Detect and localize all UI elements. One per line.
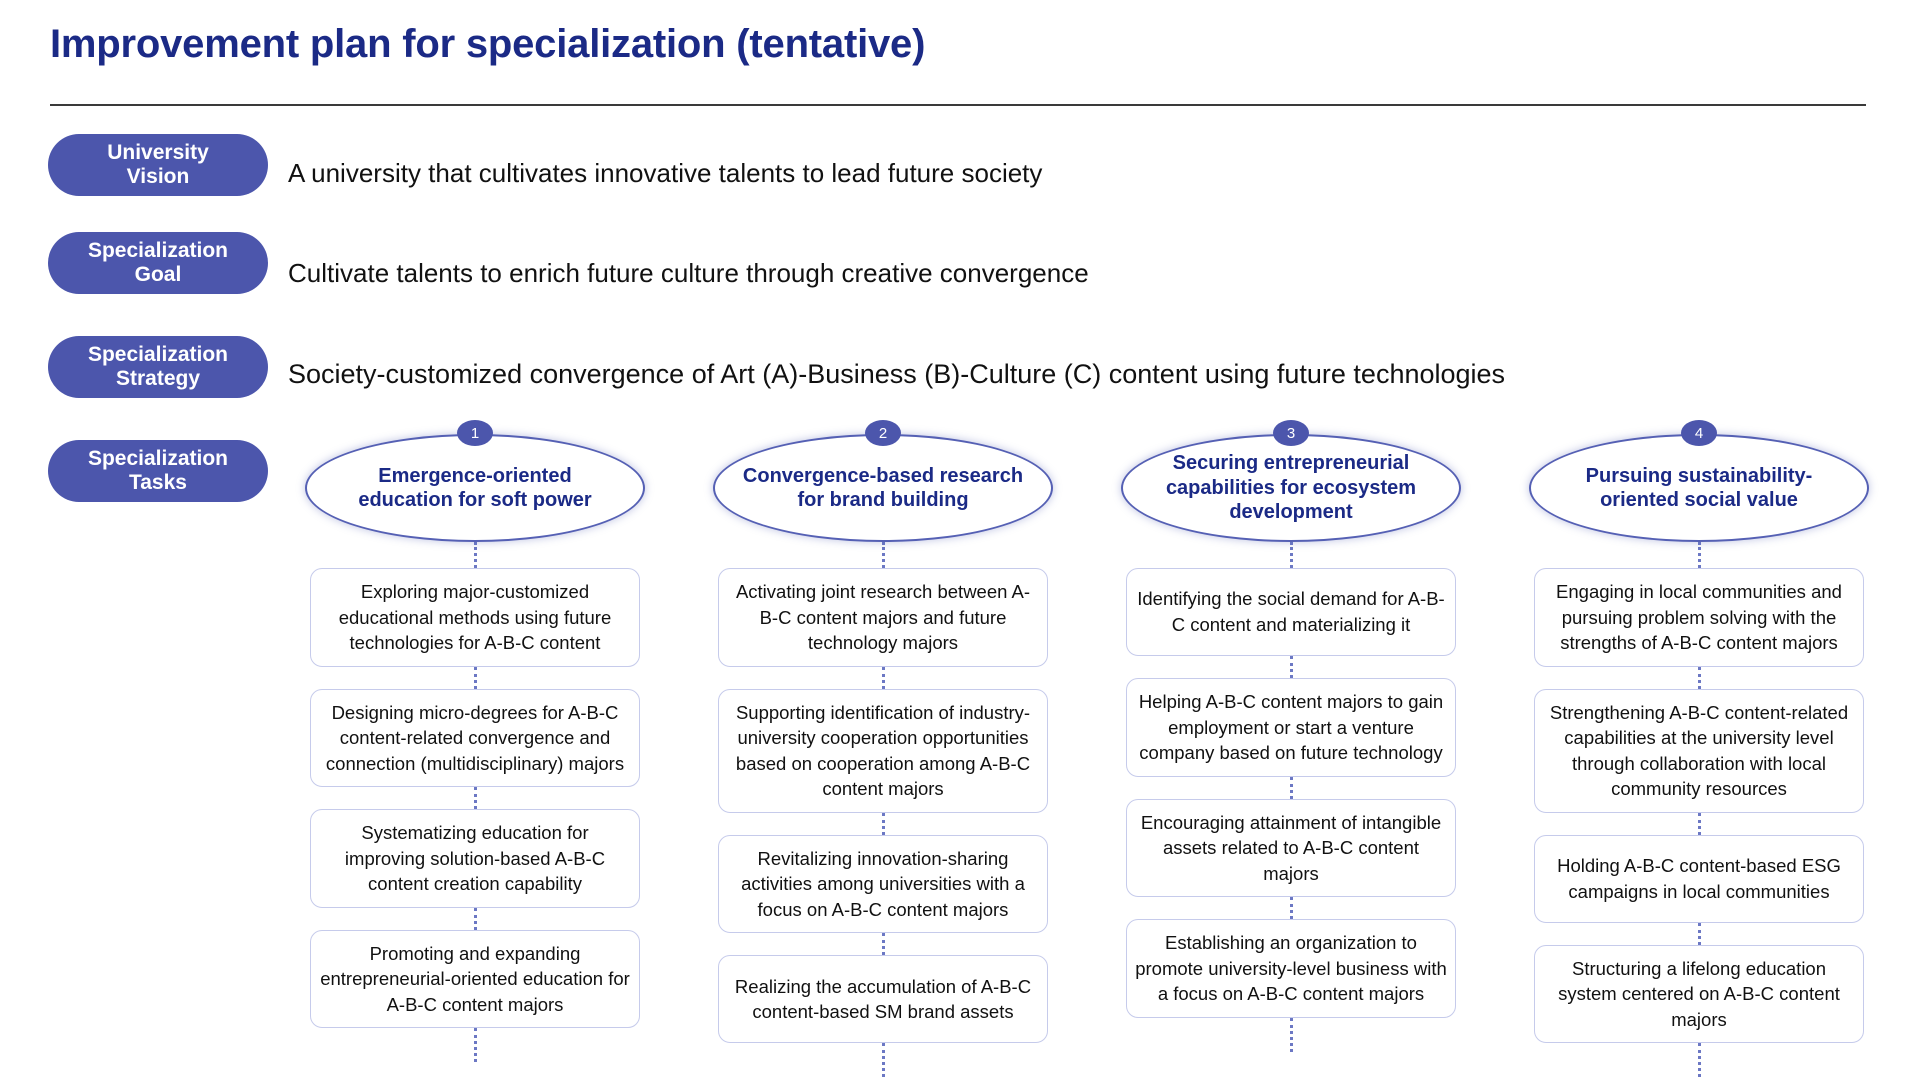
- task-item-box[interactable]: Promoting and expanding entrepreneurial-…: [310, 930, 640, 1029]
- pill-line-2: Vision: [107, 165, 209, 189]
- task-item-text: Strengthening A-B-C content-related capa…: [1543, 700, 1855, 802]
- task-head-2: Convergence-based research for brand bui…: [718, 420, 1048, 542]
- task-item-box[interactable]: Structuring a lifelong education system …: [1534, 945, 1864, 1044]
- task-head-4: Pursuing sustainability-oriented social …: [1534, 420, 1864, 542]
- connector: [474, 787, 477, 809]
- connector: [1698, 1043, 1701, 1077]
- task-item-text: Revitalizing innovation-sharing activiti…: [727, 846, 1039, 923]
- task-item-text: Promoting and expanding entrepreneurial-…: [319, 941, 631, 1018]
- university-vision-statement: A university that cultivates innovative …: [288, 158, 1042, 189]
- connector: [882, 542, 885, 568]
- pill-specialization-strategy: Specialization Strategy: [48, 336, 268, 398]
- task-item-text: Establishing an organization to promote …: [1135, 930, 1447, 1007]
- connector: [882, 933, 885, 955]
- pill-line-1: Specialization: [88, 343, 228, 367]
- task-item-box[interactable]: Encouraging attainment of intangible ass…: [1126, 799, 1456, 898]
- task-item-box[interactable]: Revitalizing innovation-sharing activiti…: [718, 835, 1048, 934]
- task-item-text: Activating joint research between A-B-C …: [727, 579, 1039, 656]
- task-ellipse-1[interactable]: Emergence-oriented education for soft po…: [305, 434, 645, 542]
- task-number-badge-2: 2: [865, 420, 901, 446]
- task-item-text: Structuring a lifelong education system …: [1543, 956, 1855, 1033]
- pill-university-vision: University Vision: [48, 134, 268, 196]
- connector: [1290, 777, 1293, 799]
- task-ellipse-2[interactable]: Convergence-based research for brand bui…: [713, 434, 1053, 542]
- connector: [1290, 897, 1293, 919]
- task-item-box[interactable]: Supporting identification of industry-un…: [718, 689, 1048, 813]
- task-item-box[interactable]: Establishing an organization to promote …: [1126, 919, 1456, 1018]
- connector: [474, 542, 477, 568]
- pill-line-1: Specialization: [88, 447, 228, 471]
- task-item-box[interactable]: Holding A-B-C content-based ESG campaign…: [1534, 835, 1864, 923]
- task-item-box[interactable]: Activating joint research between A-B-C …: [718, 568, 1048, 667]
- task-head-1: Emergence-oriented education for soft po…: [310, 420, 640, 542]
- connector: [882, 667, 885, 689]
- task-item-text: Exploring major-customized educational m…: [319, 579, 631, 656]
- connector: [474, 908, 477, 930]
- pill-specialization-tasks: Specialization Tasks: [48, 440, 268, 502]
- pill-specialization-goal: Specialization Goal: [48, 232, 268, 294]
- task-head-3: Securing entrepreneurial capabilities fo…: [1126, 420, 1456, 542]
- connector: [1698, 542, 1701, 568]
- connector: [1698, 667, 1701, 689]
- task-heading-1: Emergence-oriented education for soft po…: [329, 464, 621, 513]
- task-ellipse-4[interactable]: Pursuing sustainability-oriented social …: [1529, 434, 1869, 542]
- task-item-box[interactable]: Systematizing education for improving so…: [310, 809, 640, 908]
- task-item-text: Holding A-B-C content-based ESG campaign…: [1543, 853, 1855, 904]
- task-item-text: Realizing the accumulation of A-B-C cont…: [727, 974, 1039, 1025]
- task-column-1: Emergence-oriented education for soft po…: [310, 420, 640, 1062]
- title-divider: [50, 104, 1866, 106]
- task-item-box[interactable]: Realizing the accumulation of A-B-C cont…: [718, 955, 1048, 1043]
- specialization-strategy-statement: Society-customized convergence of Art (A…: [288, 359, 1505, 390]
- connector: [474, 667, 477, 689]
- pill-line-2: Goal: [88, 263, 228, 287]
- task-item-text: Encouraging attainment of intangible ass…: [1135, 810, 1447, 887]
- task-number-badge-4: 4: [1681, 420, 1717, 446]
- connector: [1290, 1018, 1293, 1052]
- task-item-box[interactable]: Exploring major-customized educational m…: [310, 568, 640, 667]
- pill-line-1: Specialization: [88, 239, 228, 263]
- task-item-text: Helping A-B-C content majors to gain emp…: [1135, 689, 1447, 766]
- task-column-2: Convergence-based research for brand bui…: [718, 420, 1048, 1077]
- task-item-box[interactable]: Strengthening A-B-C content-related capa…: [1534, 689, 1864, 813]
- pill-line-2: Tasks: [88, 471, 228, 495]
- task-column-4: Pursuing sustainability-oriented social …: [1534, 420, 1864, 1077]
- task-column-3: Securing entrepreneurial capabilities fo…: [1126, 420, 1456, 1052]
- connector: [474, 1028, 477, 1062]
- connector: [1290, 656, 1293, 678]
- connector: [1698, 813, 1701, 835]
- task-item-box[interactable]: Engaging in local communities and pursui…: [1534, 568, 1864, 667]
- task-item-text: Designing micro-degrees for A-B-C conten…: [319, 700, 631, 777]
- connector: [882, 813, 885, 835]
- task-item-text: Systematizing education for improving so…: [319, 820, 631, 897]
- connector: [1290, 542, 1293, 568]
- task-heading-4: Pursuing sustainability-oriented social …: [1553, 464, 1845, 513]
- pill-line-1: University: [107, 141, 209, 165]
- pill-line-2: Strategy: [88, 367, 228, 391]
- connector: [882, 1043, 885, 1077]
- connector: [1698, 923, 1701, 945]
- task-item-text: Identifying the social demand for A-B-C …: [1135, 586, 1447, 637]
- task-heading-3: Securing entrepreneurial capabilities fo…: [1145, 451, 1437, 524]
- task-number-badge-1: 1: [457, 420, 493, 446]
- task-item-text: Engaging in local communities and pursui…: [1543, 579, 1855, 656]
- task-heading-2: Convergence-based research for brand bui…: [737, 464, 1029, 513]
- task-item-box[interactable]: Identifying the social demand for A-B-C …: [1126, 568, 1456, 656]
- task-item-text: Supporting identification of industry-un…: [727, 700, 1039, 802]
- task-ellipse-3[interactable]: Securing entrepreneurial capabilities fo…: [1121, 434, 1461, 542]
- specialization-goal-statement: Cultivate talents to enrich future cultu…: [288, 258, 1089, 289]
- task-item-box[interactable]: Designing micro-degrees for A-B-C conten…: [310, 689, 640, 788]
- task-item-box[interactable]: Helping A-B-C content majors to gain emp…: [1126, 678, 1456, 777]
- task-number-badge-3: 3: [1273, 420, 1309, 446]
- page-title: Improvement plan for specialization (ten…: [50, 22, 925, 67]
